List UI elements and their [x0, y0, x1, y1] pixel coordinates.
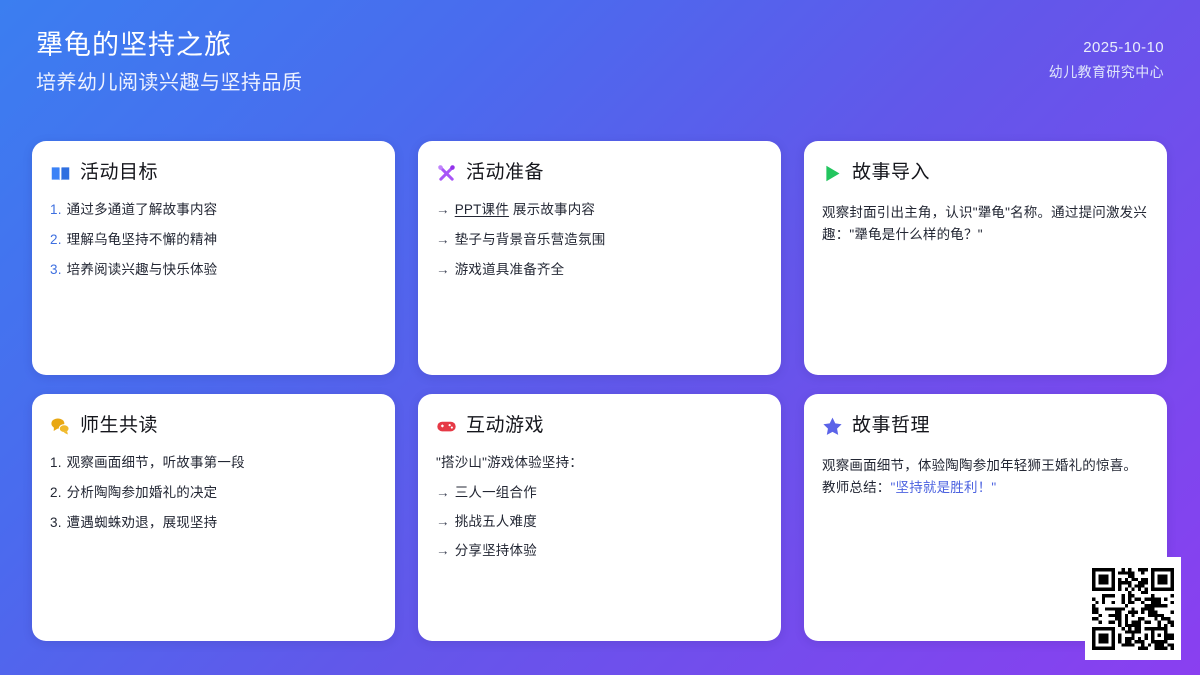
card-title: 师生共读	[80, 414, 158, 438]
list-item: → 分享坚持体验	[436, 543, 763, 559]
list-text: 分析陶陶参加婚礼的决定	[67, 485, 218, 501]
gamepad-icon	[436, 416, 457, 437]
card-title: 故事导入	[852, 161, 930, 185]
speech-bubbles-icon	[50, 416, 71, 437]
card-activity-goals[interactable]: 活动目标 1. 通过多通道了解故事内容 2. 理解乌龟坚持不懈的精神 3. 培养…	[32, 141, 395, 375]
list-item: 2. 分析陶陶参加婚礼的决定	[50, 485, 377, 501]
page-header: 犟龟的坚持之旅 培养幼儿阅读兴趣与坚持品质 2025-10-10 幼儿教育研究中…	[0, 0, 1200, 131]
list-item: → PPT课件 展示故事内容	[436, 202, 763, 218]
header-organization: 幼儿教育研究中心	[1049, 61, 1164, 83]
story-moral-text: 观察画面细节，体验陶陶参加年轻狮王婚礼的惊喜。教师总结："坚持就是胜利！"	[822, 455, 1149, 499]
list-marker: 3.	[50, 515, 62, 531]
qr-code-panel[interactable]	[1085, 557, 1181, 660]
card-activity-preparation[interactable]: 活动准备 → PPT课件 展示故事内容 → 垫子与背景音乐营造氛围 → 游戏道具…	[418, 141, 781, 375]
list-marker: 1.	[50, 455, 62, 471]
card-grid: 活动目标 1. 通过多通道了解故事内容 2. 理解乌龟坚持不懈的精神 3. 培养…	[32, 141, 1168, 641]
qr-code	[1092, 568, 1174, 650]
list-text: 理解乌龟坚持不懈的精神	[67, 232, 218, 248]
card-header: 故事导入	[822, 161, 1149, 185]
list-item: 1. 通过多通道了解故事内容	[50, 202, 377, 218]
list-item: → 挑战五人难度	[436, 514, 763, 530]
preparation-list: → PPT课件 展示故事内容 → 垫子与背景音乐营造氛围 → 游戏道具准备齐全	[436, 202, 763, 278]
list-item: → 垫子与背景音乐营造氛围	[436, 232, 763, 248]
card-title: 互动游戏	[466, 414, 544, 438]
list-marker: →	[436, 232, 450, 248]
list-item: → 三人一组合作	[436, 485, 763, 501]
goal-list: 1. 通过多通道了解故事内容 2. 理解乌龟坚持不懈的精神 3. 培养阅读兴趣与…	[50, 202, 377, 278]
list-text: 通过多通道了解故事内容	[67, 202, 218, 218]
star-icon	[822, 416, 843, 437]
list-text: 游戏道具准备齐全	[455, 262, 565, 278]
game-step-list: → 三人一组合作 → 挑战五人难度 → 分享坚持体验	[436, 485, 763, 559]
list-text-group: PPT课件 展示故事内容	[455, 202, 595, 218]
list-item: 2. 理解乌龟坚持不懈的精神	[50, 232, 377, 248]
list-text: 垫子与背景音乐营造氛围	[455, 232, 606, 248]
page-subtitle: 培养幼儿阅读兴趣与坚持品质	[36, 68, 303, 98]
header-date: 2025-10-10	[1083, 37, 1164, 59]
story-moral-accent: "坚持就是胜利！"	[891, 480, 997, 495]
card-header: 故事哲理	[822, 414, 1149, 438]
hammer-and-wrench-icon	[436, 163, 457, 184]
list-text: 分享坚持体验	[455, 543, 537, 559]
header-title-block: 犟龟的坚持之旅 培养幼儿阅读兴趣与坚持品质	[36, 28, 303, 98]
card-header: 活动准备	[436, 161, 763, 185]
card-header: 活动目标	[50, 161, 377, 185]
list-marker: →	[436, 514, 450, 530]
list-marker: →	[436, 202, 450, 218]
list-text: 培养阅读兴趣与快乐体验	[67, 262, 218, 278]
header-meta-block: 2025-10-10 幼儿教育研究中心	[1049, 28, 1164, 83]
card-shared-reading[interactable]: 师生共读 1. 观察画面细节，听故事第一段 2. 分析陶陶参加婚礼的决定 3. …	[32, 394, 395, 641]
card-title: 活动目标	[80, 161, 158, 185]
list-marker: 3.	[50, 262, 62, 278]
card-header: 师生共读	[50, 414, 377, 438]
list-text: 挑战五人难度	[455, 514, 537, 530]
list-item: → 游戏道具准备齐全	[436, 262, 763, 278]
list-marker: →	[436, 262, 450, 278]
list-text: 观察画面细节，听故事第一段	[67, 455, 245, 471]
list-marker: 1.	[50, 202, 62, 218]
card-story-introduction[interactable]: 故事导入 观察封面引出主角，认识"犟龟"名称。通过提问激发兴趣："犟龟是什么样的…	[804, 141, 1167, 375]
card-interactive-game[interactable]: 互动游戏 "搭沙山"游戏体验坚持： → 三人一组合作 → 挑战五人难度 → 分享…	[418, 394, 781, 641]
list-marker: →	[436, 543, 450, 559]
story-introduction-text: 观察封面引出主角，认识"犟龟"名称。通过提问激发兴趣："犟龟是什么样的龟？"	[822, 202, 1149, 246]
list-text: 遭遇蜘蛛劝退，展现坚持	[67, 515, 218, 531]
list-item: 3. 遭遇蜘蛛劝退，展现坚持	[50, 515, 377, 531]
list-text: 三人一组合作	[455, 485, 537, 501]
list-text: 展示故事内容	[509, 202, 595, 217]
play-triangle-icon	[822, 163, 843, 184]
page-title: 犟龟的坚持之旅	[36, 28, 303, 62]
game-lead-text: "搭沙山"游戏体验坚持：	[436, 455, 763, 471]
shared-reading-list: 1. 观察画面细节，听故事第一段 2. 分析陶陶参加婚礼的决定 3. 遭遇蜘蛛劝…	[50, 455, 377, 531]
open-book-icon	[50, 163, 71, 184]
list-item: 1. 观察画面细节，听故事第一段	[50, 455, 377, 471]
card-title: 活动准备	[466, 161, 544, 185]
list-marker: →	[436, 485, 450, 501]
list-marker: 2.	[50, 485, 62, 501]
card-title: 故事哲理	[852, 414, 930, 438]
list-item: 3. 培养阅读兴趣与快乐体验	[50, 262, 377, 278]
list-marker: 2.	[50, 232, 62, 248]
list-text-underlined[interactable]: PPT课件	[455, 202, 509, 217]
card-header: 互动游戏	[436, 414, 763, 438]
